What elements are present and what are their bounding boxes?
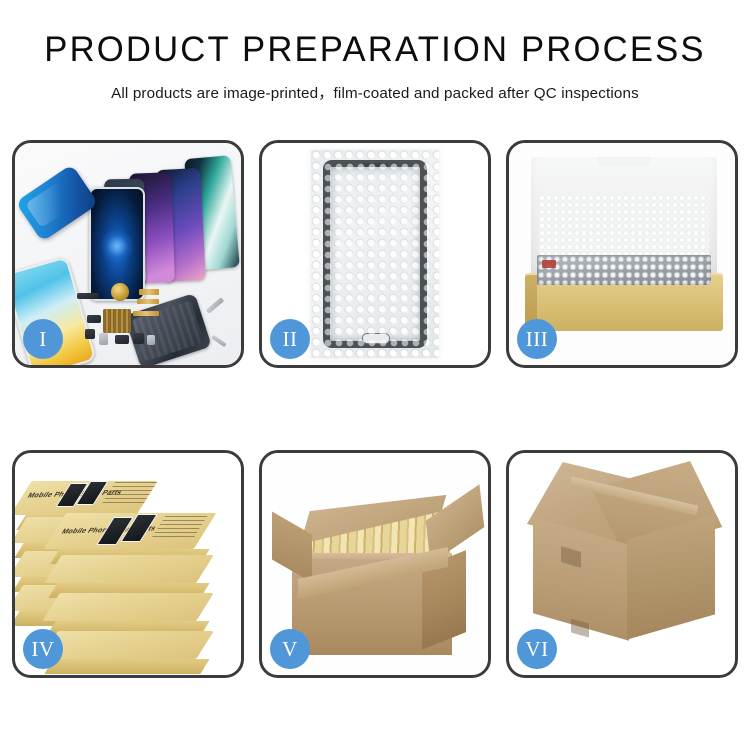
part-connector-strip <box>77 293 99 299</box>
page-header: PRODUCT PREPARATION PROCESS All products… <box>0 0 750 103</box>
part-ic-chip <box>85 329 95 339</box>
part-vibrator <box>133 333 144 344</box>
wrapped-screen-in-box <box>537 255 711 285</box>
step-badge-4: IV <box>23 629 63 669</box>
step-badge-2: II <box>270 319 310 359</box>
step-4-image: Mobile Phone Spare Parts <box>15 453 241 675</box>
step-badge-1: I <box>23 319 63 359</box>
part-flex-cable-1 <box>139 289 159 295</box>
process-step-panel-1: I <box>12 140 244 368</box>
box-front-face <box>44 659 209 674</box>
step-3-image: III <box>509 143 735 365</box>
process-step-panel-3: III <box>506 140 738 368</box>
process-step-panel-6: VI <box>506 450 738 678</box>
process-step-panel-4: Mobile Phone Spare Parts <box>12 450 244 678</box>
process-steps-grid: I II III <box>12 140 738 678</box>
box-top-face <box>42 593 213 621</box>
process-step-panel-2: II <box>259 140 491 368</box>
part-chip-array <box>103 309 131 333</box>
kraft-box-right-3 <box>51 593 205 621</box>
step-badge-6: VI <box>517 629 557 669</box>
step-badge-5: V <box>270 629 310 669</box>
page-title: PRODUCT PREPARATION PROCESS <box>4 32 747 69</box>
box-top-face <box>40 631 213 659</box>
step-1-image: I <box>15 143 241 365</box>
page-subtitle: All products are image-printed，film-coat… <box>0 81 750 103</box>
part-flex-cable-3 <box>133 311 159 316</box>
step-6-image: VI <box>509 453 735 675</box>
step-5-image: V <box>262 453 488 675</box>
bubble-wrap-overlay <box>311 150 439 358</box>
part-speaker <box>115 335 129 344</box>
step-2-image: II <box>262 143 488 365</box>
part-camera-module <box>87 315 101 323</box>
kraft-box-right-2 <box>53 555 205 583</box>
process-step-panel-5: V <box>259 450 491 678</box>
kraft-box-right-4 <box>49 631 205 659</box>
part-screw-set <box>147 335 155 345</box>
step-badge-3: III <box>517 319 557 359</box>
part-coil <box>111 283 129 301</box>
part-metal-bracket <box>99 333 108 345</box>
part-flex-cable-2 <box>137 299 159 304</box>
box-top-face <box>44 555 213 583</box>
